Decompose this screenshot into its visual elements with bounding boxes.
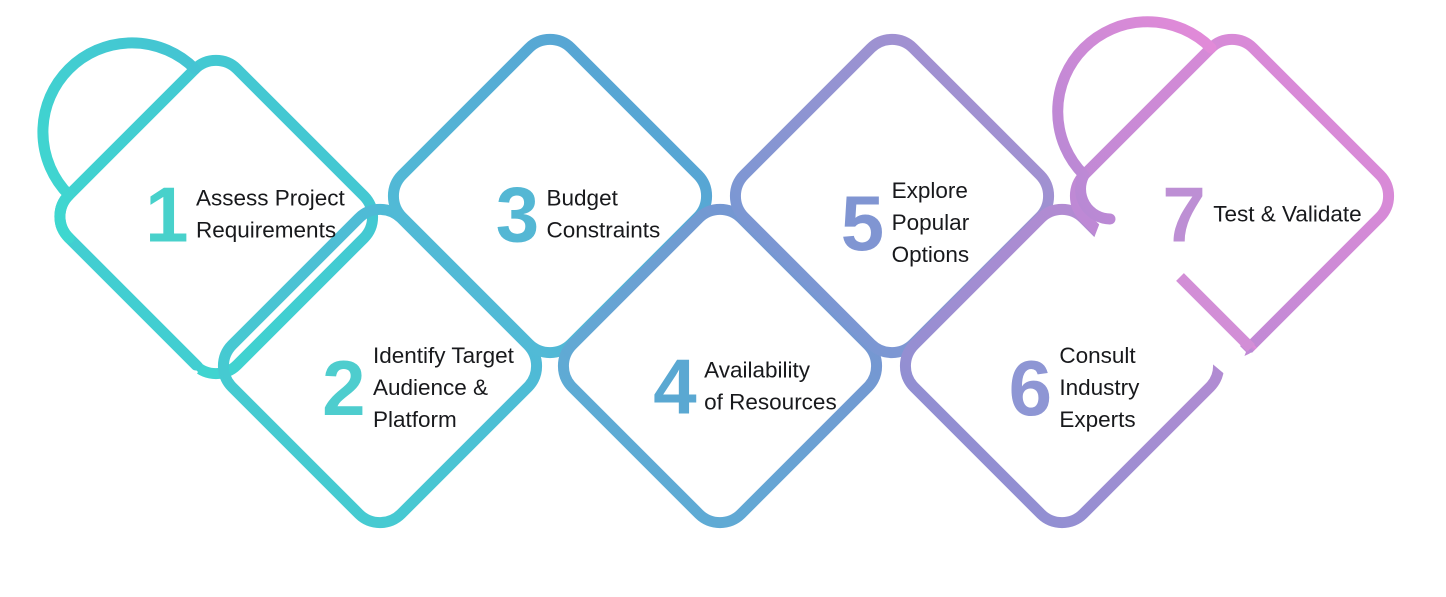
diamond-shape-5 <box>735 39 1048 352</box>
diamond-7-open-arm-mask <box>1094 212 1246 382</box>
diamond-1-open-arm-mask <box>48 228 198 392</box>
diamond-shape-1 <box>60 60 373 373</box>
diamond-chain-svg <box>0 0 1446 597</box>
diamond-shape-6 <box>905 209 1218 522</box>
infographic-canvas: 1 Assess Project Requirements 2 Identify… <box>0 0 1446 597</box>
diamond-shape-3 <box>393 39 706 352</box>
diamond-shape-4 <box>563 209 876 522</box>
diamond-shape-7 <box>1075 39 1388 352</box>
diamond-shape-2 <box>223 209 536 522</box>
